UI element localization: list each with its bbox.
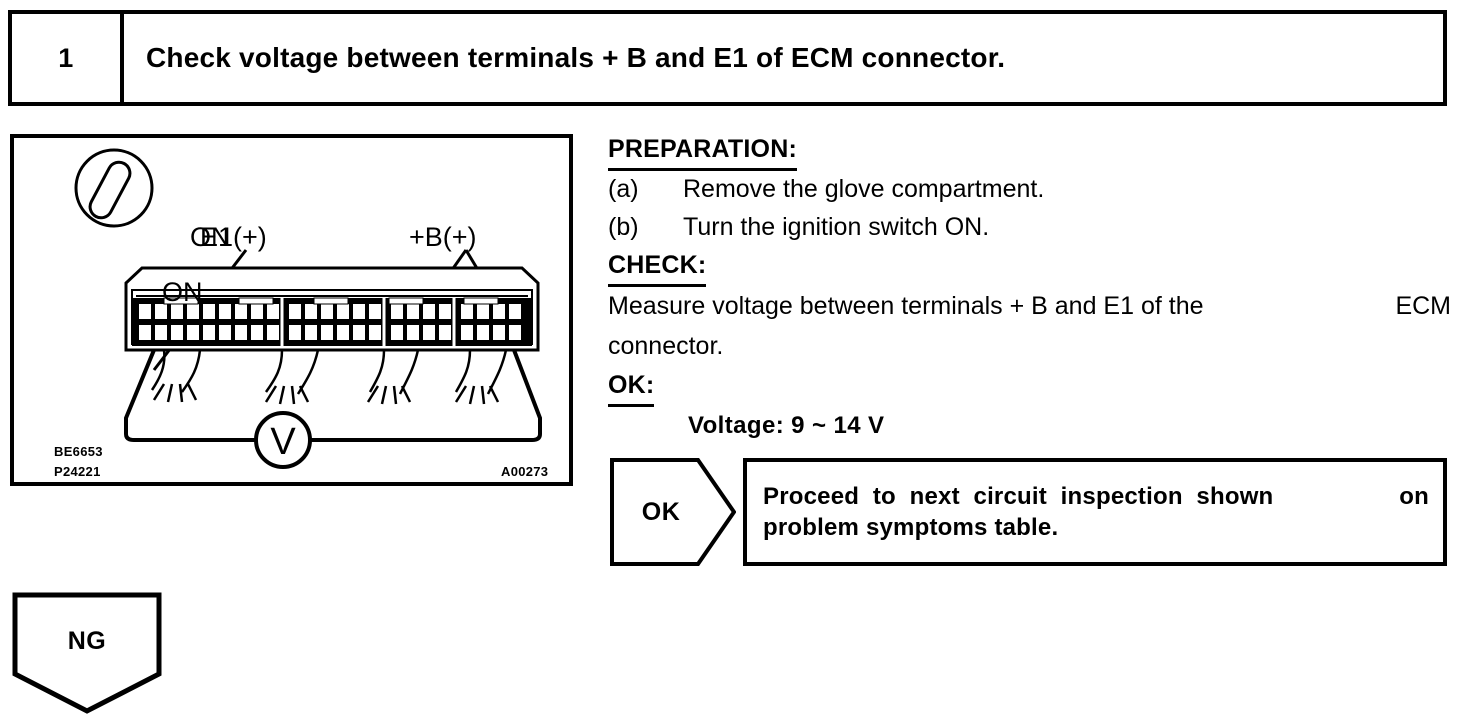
wire-harness-bundles (152, 350, 506, 404)
step-number-cell: 1 (12, 14, 124, 102)
voltmeter-symbol: V (270, 421, 296, 463)
terminal-label-plus-b: +B(+) (409, 222, 477, 253)
check-heading-row: CHECK: (608, 246, 1453, 286)
check-heading: CHECK: (608, 246, 706, 287)
ok-branch: OK Proceed to next circuit inspection sh… (610, 458, 1447, 566)
check-body-line-2: connector. (608, 326, 1453, 366)
ok-heading-row: OK: (608, 366, 1453, 406)
figure-code-be: BE6653 (54, 444, 103, 459)
step-header-box: 1 Check voltage between terminals + B an… (8, 10, 1447, 106)
check-body-line-1-tail: ECM (1395, 286, 1451, 326)
preparation-step-a-text: Remove the glove compartment. (683, 170, 1453, 208)
ok-result-line-2: problem symptoms table. (763, 512, 1429, 543)
ok-result-line-1: Proceed to next circuit inspection shown… (763, 481, 1429, 512)
ok-tag-label: OK (610, 458, 712, 566)
ng-branch-tag: NG (12, 592, 162, 714)
ng-tag-label: NG (12, 592, 162, 690)
illustration-box: V ON ON E1(+) +B(+) BE6653 P24221 A00273 (10, 134, 573, 486)
preparation-step-b: (b) Turn the ignition switch ON. (608, 208, 1453, 246)
terminal-label-e1: E1(+) (200, 222, 267, 253)
ok-result-box: Proceed to next circuit inspection shown… (743, 458, 1447, 566)
procedure-column: PREPARATION: (a) Remove the glove compar… (608, 130, 1453, 446)
preparation-step-b-marker: (b) (608, 208, 683, 246)
check-body-line-1-main: Measure voltage between terminals + B an… (608, 286, 1204, 326)
preparation-step-a-marker: (a) (608, 170, 683, 208)
ok-branch-tag: OK (610, 458, 736, 566)
step-number: 1 (58, 43, 74, 74)
figure-code-a: A00273 (501, 464, 548, 479)
ok-heading: OK: (608, 366, 654, 407)
ecm-connector-diagram: V ON (14, 138, 569, 482)
check-body-line-1: Measure voltage between terminals + B an… (608, 286, 1451, 326)
voltmeter-probe-circuit (126, 350, 540, 440)
preparation-step-a: (a) Remove the glove compartment. (608, 170, 1453, 208)
ok-result-line-1-main: Proceed to next circuit inspection shown (763, 481, 1273, 512)
voltmeter-icon: V (256, 413, 310, 467)
ignition-switch-on-icon (76, 150, 152, 226)
preparation-step-b-text: Turn the ignition switch ON. (683, 208, 1453, 246)
figure-code-p: P24221 (54, 464, 101, 479)
step-title-cell: Check voltage between terminals + B and … (124, 14, 1443, 102)
preparation-heading: PREPARATION: (608, 130, 797, 171)
step-title: Check voltage between terminals + B and … (146, 42, 1005, 74)
ok-voltage-spec: Voltage: 9 ~ 14 V (608, 406, 1453, 446)
ignition-on-label-text: ON (162, 277, 203, 308)
ok-result-line-1-tail: on (1399, 481, 1429, 512)
preparation-heading-row: PREPARATION: (608, 130, 1453, 170)
